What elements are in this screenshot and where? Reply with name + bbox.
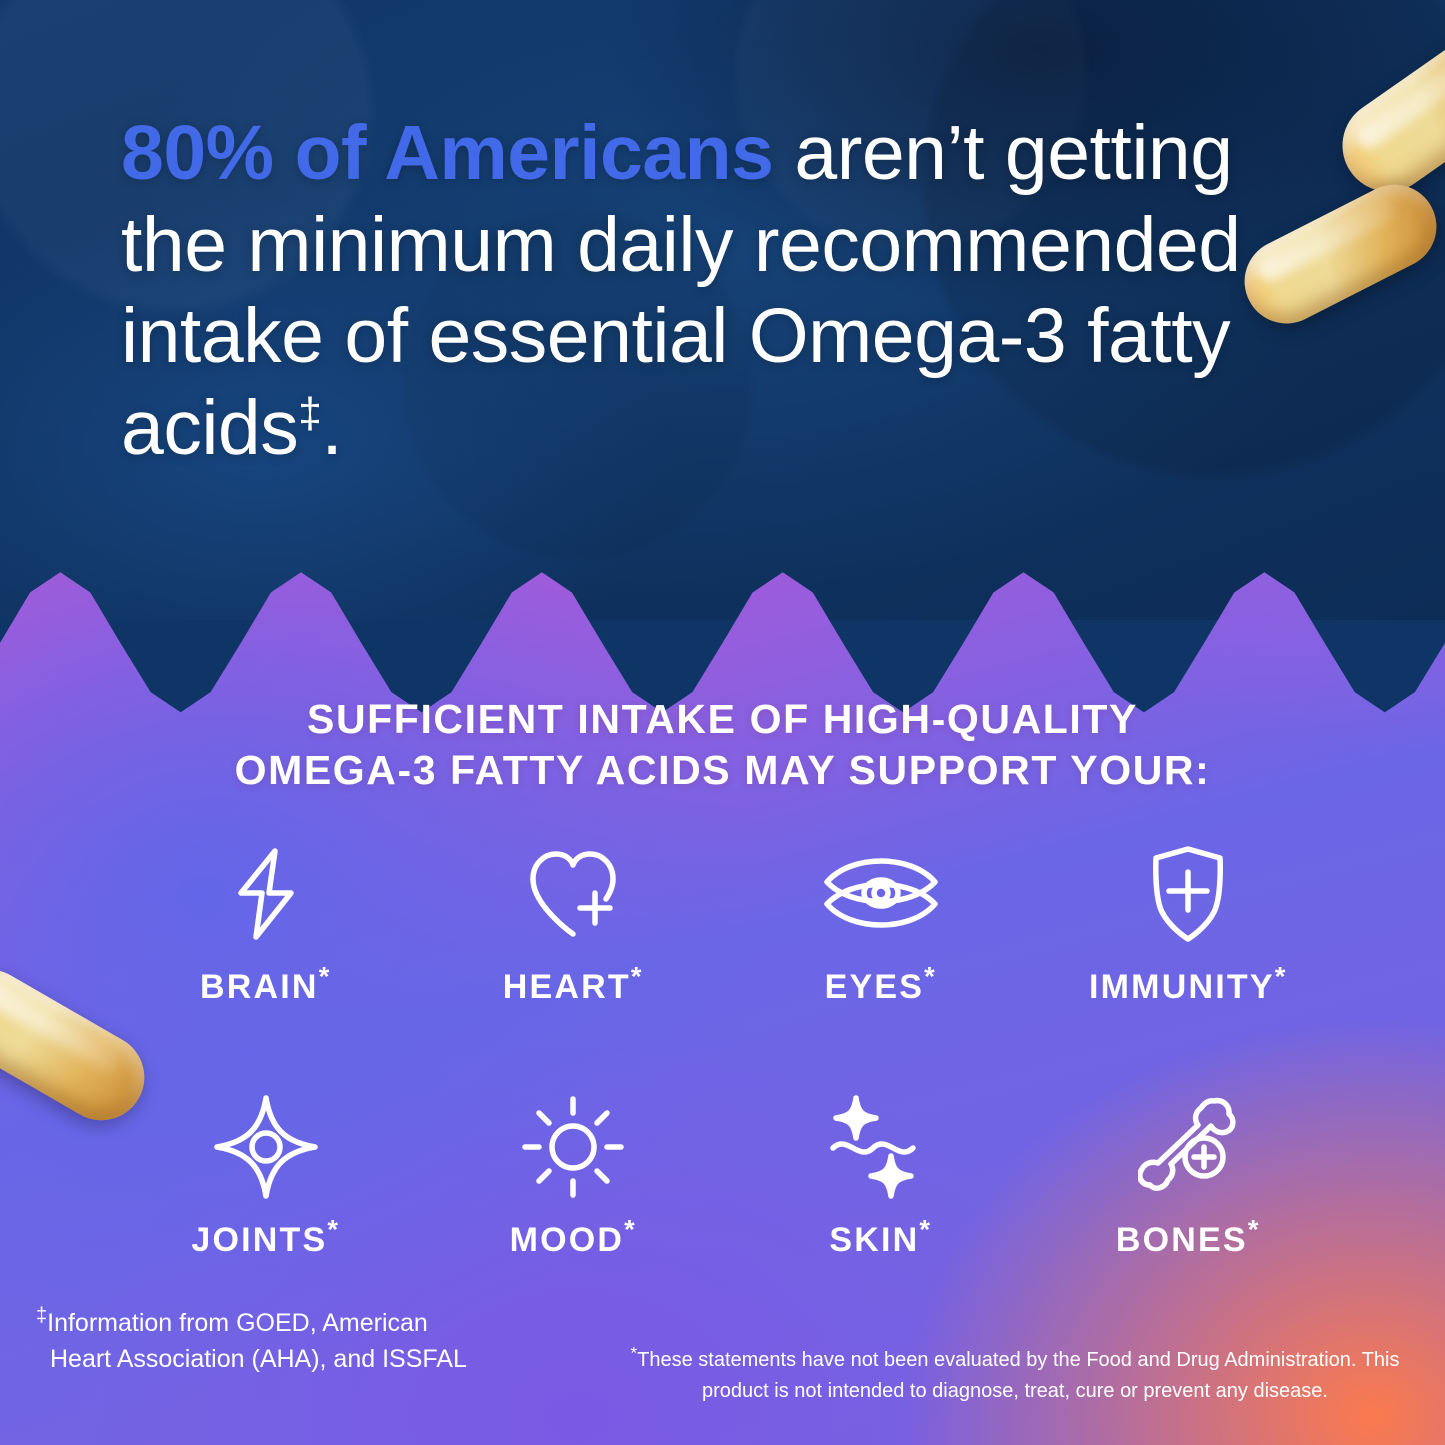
footnote-sources: ‡Information from GOED, American Heart A…: [36, 1305, 486, 1378]
skin-sparkle-wave-icon: [825, 1095, 937, 1199]
benefit-item-brain: BRAIN*: [112, 842, 420, 1007]
benefit-item-eyes: EYES*: [727, 842, 1035, 1007]
headline-footnote-marker: ‡: [298, 389, 321, 436]
benefit-label: IMMUNITY*: [1089, 968, 1287, 1007]
benefit-label: MOOD*: [510, 1221, 637, 1260]
benefit-label: SKIN*: [829, 1221, 932, 1260]
sparkle-joint-icon: [213, 1095, 319, 1199]
footnote-marker-dagger: ‡: [36, 1305, 47, 1327]
benefit-item-skin: SKIN*: [727, 1095, 1035, 1260]
heart-plus-icon: [523, 842, 623, 946]
benefit-label: BONES*: [1116, 1221, 1261, 1260]
bone-plus-icon: [1138, 1095, 1238, 1199]
lightning-bolt-icon: [223, 842, 309, 946]
shield-plus-icon: [1144, 842, 1232, 946]
eye-icon: [821, 842, 941, 946]
benefit-item-immunity: IMMUNITY*: [1035, 842, 1343, 1007]
benefit-item-bones: BONES*: [1035, 1095, 1343, 1260]
benefit-label: BRAIN*: [200, 968, 331, 1007]
page-title: 80% of Americans aren’t getting the mini…: [121, 108, 1351, 475]
benefit-label: HEART*: [503, 968, 644, 1007]
section-subtitle: SUFFICIENT INTAKE OF HIGH-QUALITY OMEGA-…: [0, 694, 1445, 797]
benefit-label: EYES*: [825, 968, 937, 1007]
benefit-item-mood: MOOD*: [420, 1095, 728, 1260]
sun-icon: [521, 1095, 625, 1199]
disclaimer-line-1: These statements have not been evaluated…: [637, 1349, 1356, 1371]
footnote-sources-text: Information from GOED, American Heart As…: [47, 1309, 467, 1373]
benefit-label: JOINTS*: [191, 1221, 340, 1260]
footnote-fda-disclaimer: *These statements have not been evaluate…: [600, 1345, 1430, 1407]
benefit-item-joints: JOINTS*: [112, 1095, 420, 1260]
benefits-grid: BRAIN* HEART* EYES*: [112, 842, 1342, 1260]
headline-period: .: [321, 385, 342, 471]
promotional-graphic: 80% of Americans aren’t getting the mini…: [0, 0, 1445, 1445]
benefit-item-heart: HEART*: [420, 842, 728, 1007]
subtitle-line-2: OMEGA-3 FATTY ACIDS MAY SUPPORT YOUR:: [0, 745, 1445, 796]
subtitle-line-1: SUFFICIENT INTAKE OF HIGH-QUALITY: [307, 696, 1138, 742]
headline-accent: 80% of Americans: [121, 110, 773, 196]
